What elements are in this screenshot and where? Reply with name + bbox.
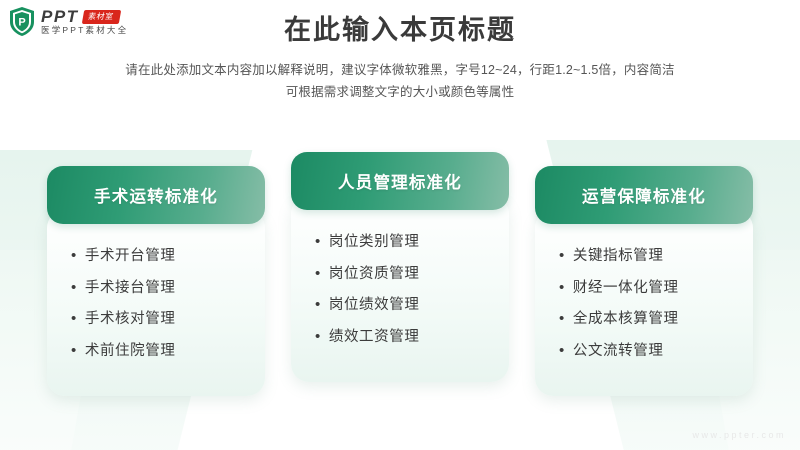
logo-badge: 素材室	[81, 10, 120, 24]
bullet-list-1: • 手术开台管理 • 手术接台管理 • 手术核对管理 • 术前住院管理	[61, 240, 251, 366]
card-group: 手术运转标准化 • 手术开台管理 • 手术接台管理 • 手术核对管理 • 术前住	[0, 152, 800, 396]
list-item[interactable]: • 手术接台管理	[71, 272, 251, 304]
list-item[interactable]: • 手术核对管理	[71, 303, 251, 335]
list-item-label: 岗位资质管理	[329, 267, 420, 282]
bullet-dot-icon: •	[315, 266, 321, 281]
brand-logo[interactable]: P PPT 素材室 医学PPT素材大全	[8, 6, 128, 37]
card-personnel-standardization[interactable]: 人员管理标准化 • 岗位类别管理 • 岗位资质管理 • 岗位绩效管理 • 绩效工	[291, 152, 509, 382]
list-item[interactable]: • 财经一体化管理	[559, 272, 739, 304]
card-header-3[interactable]: 运营保障标准化	[535, 166, 753, 224]
list-item-label: 关键指标管理	[573, 249, 664, 264]
card-header-1[interactable]: 手术运转标准化	[47, 166, 265, 224]
card-header-2[interactable]: 人员管理标准化	[291, 152, 509, 210]
list-item[interactable]: • 岗位类别管理	[315, 226, 495, 258]
bullet-list-3: • 关键指标管理 • 财经一体化管理 • 全成本核算管理 • 公文流转管理	[549, 240, 739, 366]
bullet-dot-icon: •	[71, 311, 77, 326]
card-title-2: 人员管理标准化	[338, 169, 462, 193]
list-item-label: 手术核对管理	[85, 312, 176, 327]
list-item-label: 手术接台管理	[85, 281, 176, 296]
svg-text:P: P	[18, 17, 25, 29]
footer-watermark: www.ppter.com	[692, 430, 786, 440]
list-item-label: 财经一体化管理	[573, 281, 679, 296]
bullet-dot-icon: •	[559, 343, 565, 358]
logo-primary-row: PPT 素材室	[41, 8, 128, 25]
page-subtitle: 请在此处添加文本内容加以解释说明，建议字体微软雅黑，字号12~24，行距1.2~…	[0, 60, 800, 104]
logo-text-block: PPT 素材室 医学PPT素材大全	[41, 8, 128, 35]
logo-brand-text: PPT	[41, 8, 79, 25]
bullet-dot-icon: •	[315, 234, 321, 249]
card-surgery-standardization[interactable]: 手术运转标准化 • 手术开台管理 • 手术接台管理 • 手术核对管理 • 术前住	[47, 166, 265, 396]
bullet-dot-icon: •	[315, 329, 321, 344]
shield-icon: P	[8, 6, 36, 37]
list-item[interactable]: • 绩效工资管理	[315, 321, 495, 353]
list-item[interactable]: • 公文流转管理	[559, 335, 739, 367]
list-item-label: 术前住院管理	[85, 344, 176, 359]
bullet-dot-icon: •	[559, 311, 565, 326]
list-item-label: 岗位类别管理	[329, 235, 420, 250]
card-body-2: • 岗位类别管理 • 岗位资质管理 • 岗位绩效管理 • 绩效工资管理	[291, 196, 509, 382]
list-item-label: 岗位绩效管理	[329, 298, 420, 313]
card-operations-standardization[interactable]: 运营保障标准化 • 关键指标管理 • 财经一体化管理 • 全成本核算管理 • 公	[535, 166, 753, 396]
list-item[interactable]: • 岗位资质管理	[315, 258, 495, 290]
bullet-dot-icon: •	[71, 343, 77, 358]
list-item-label: 绩效工资管理	[329, 330, 420, 345]
list-item[interactable]: • 全成本核算管理	[559, 303, 739, 335]
list-item[interactable]: • 手术开台管理	[71, 240, 251, 272]
page-subtitle-line-2: 可根据需求调整文字的大小或颜色等属性	[0, 82, 800, 104]
bullet-dot-icon: •	[559, 280, 565, 295]
list-item-label: 公文流转管理	[573, 344, 664, 359]
bullet-dot-icon: •	[315, 297, 321, 312]
bullet-dot-icon: •	[559, 248, 565, 263]
list-item-label: 全成本核算管理	[573, 312, 679, 327]
bullet-list-2: • 岗位类别管理 • 岗位资质管理 • 岗位绩效管理 • 绩效工资管理	[305, 226, 495, 352]
bullet-dot-icon: •	[71, 280, 77, 295]
list-item[interactable]: • 术前住院管理	[71, 335, 251, 367]
list-item[interactable]: • 关键指标管理	[559, 240, 739, 272]
list-item-label: 手术开台管理	[85, 249, 176, 264]
page-subtitle-line-1: 请在此处添加文本内容加以解释说明，建议字体微软雅黑，字号12~24，行距1.2~…	[0, 60, 800, 82]
card-body-3: • 关键指标管理 • 财经一体化管理 • 全成本核算管理 • 公文流转管理	[535, 210, 753, 396]
card-title-3: 运营保障标准化	[582, 183, 706, 207]
card-title-1: 手术运转标准化	[94, 183, 218, 207]
list-item[interactable]: • 岗位绩效管理	[315, 289, 495, 321]
card-body-1: • 手术开台管理 • 手术接台管理 • 手术核对管理 • 术前住院管理	[47, 210, 265, 396]
bullet-dot-icon: •	[71, 248, 77, 263]
logo-tagline: 医学PPT素材大全	[41, 26, 128, 35]
